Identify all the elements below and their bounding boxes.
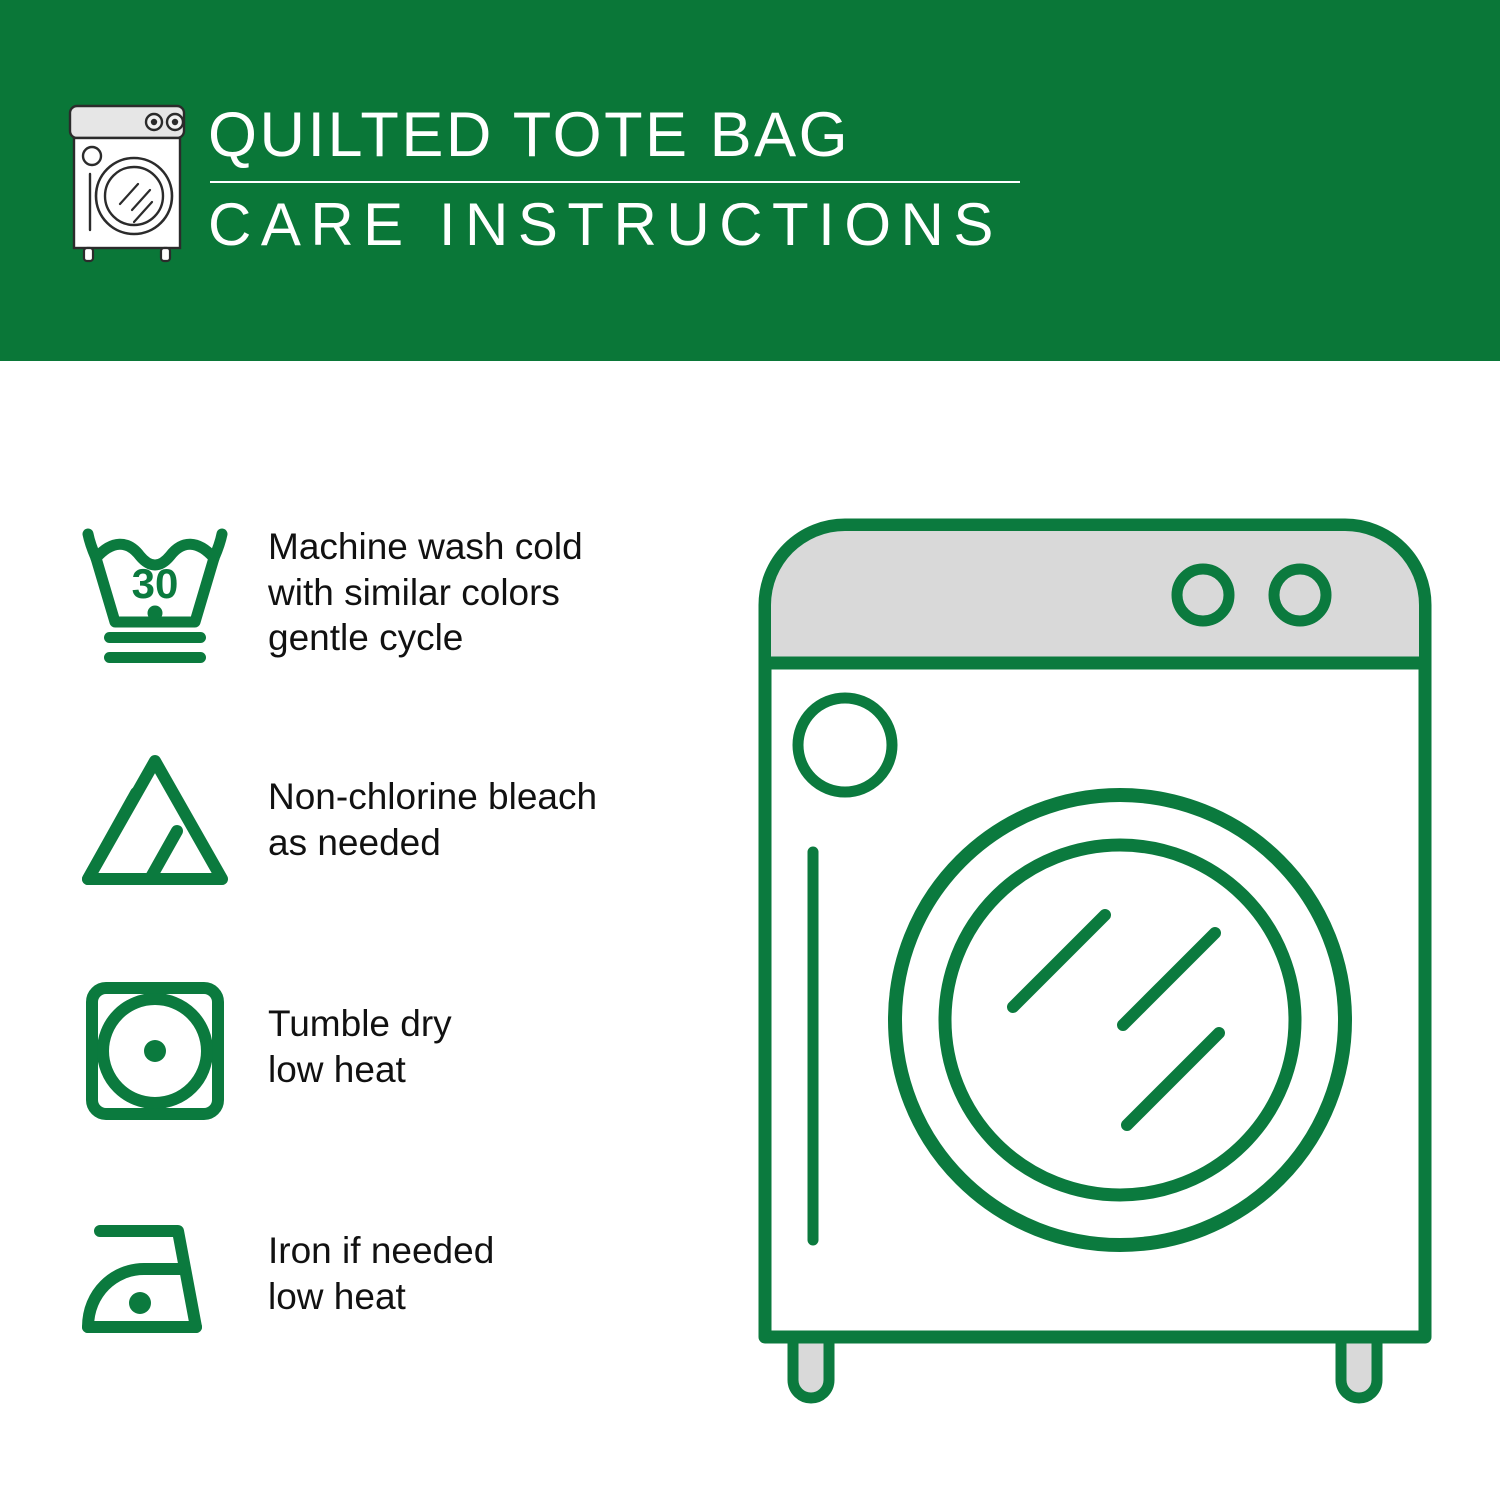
care-text-line: gentle cycle [268, 615, 583, 661]
care-row-wash: 30 Machine wash cold with similar colors… [70, 505, 710, 680]
front-load-washing-machine-illustration [735, 495, 1455, 1435]
care-text-line: Tumble dry [268, 1001, 452, 1047]
care-text-line: low heat [268, 1274, 494, 1320]
care-row-tumble-dry: Tumble dry low heat [70, 959, 710, 1134]
care-text-line: low heat [268, 1047, 452, 1093]
page-title: QUILTED TOTE BAG [208, 104, 1020, 167]
care-row-iron: Iron if needed low heat [70, 1186, 710, 1361]
care-text-wash: Machine wash cold with similar colors ge… [268, 524, 583, 662]
tumble-dry-low-symbol [70, 969, 240, 1124]
care-text-iron: Iron if needed low heat [268, 1228, 494, 1320]
page-subtitle: CARE INSTRUCTIONS [208, 195, 1020, 255]
care-instructions-page: QUILTED TOTE BAG CARE INSTRUCTIONS [0, 0, 1500, 1500]
washing-machine-icon [62, 100, 192, 265]
header-content: QUILTED TOTE BAG CARE INSTRUCTIONS [62, 100, 1020, 265]
care-row-bleach: Non-chlorine bleach as needed [70, 732, 710, 907]
page-header: QUILTED TOTE BAG CARE INSTRUCTIONS [0, 0, 1500, 361]
care-text-bleach: Non-chlorine bleach as needed [268, 774, 597, 866]
wash-temperature-label: 30 [132, 560, 179, 607]
care-text-line: with similar colors [268, 570, 583, 616]
care-text-line: Iron if needed [268, 1228, 494, 1274]
non-chlorine-bleach-triangle-symbol [70, 742, 240, 897]
care-text-line: as needed [268, 820, 597, 866]
care-text-line: Non-chlorine bleach [268, 774, 597, 820]
wash-tub-30-gentle-symbol: 30 [70, 515, 240, 670]
title-divider [210, 181, 1020, 183]
care-text-line: Machine wash cold [268, 524, 583, 570]
iron-low-heat-symbol [70, 1196, 240, 1351]
care-text-tumble-dry: Tumble dry low heat [268, 1001, 452, 1093]
header-title-group: QUILTED TOTE BAG CARE INSTRUCTIONS [208, 100, 1020, 255]
care-symbol-list: 30 Machine wash cold with similar colors… [70, 505, 710, 1361]
